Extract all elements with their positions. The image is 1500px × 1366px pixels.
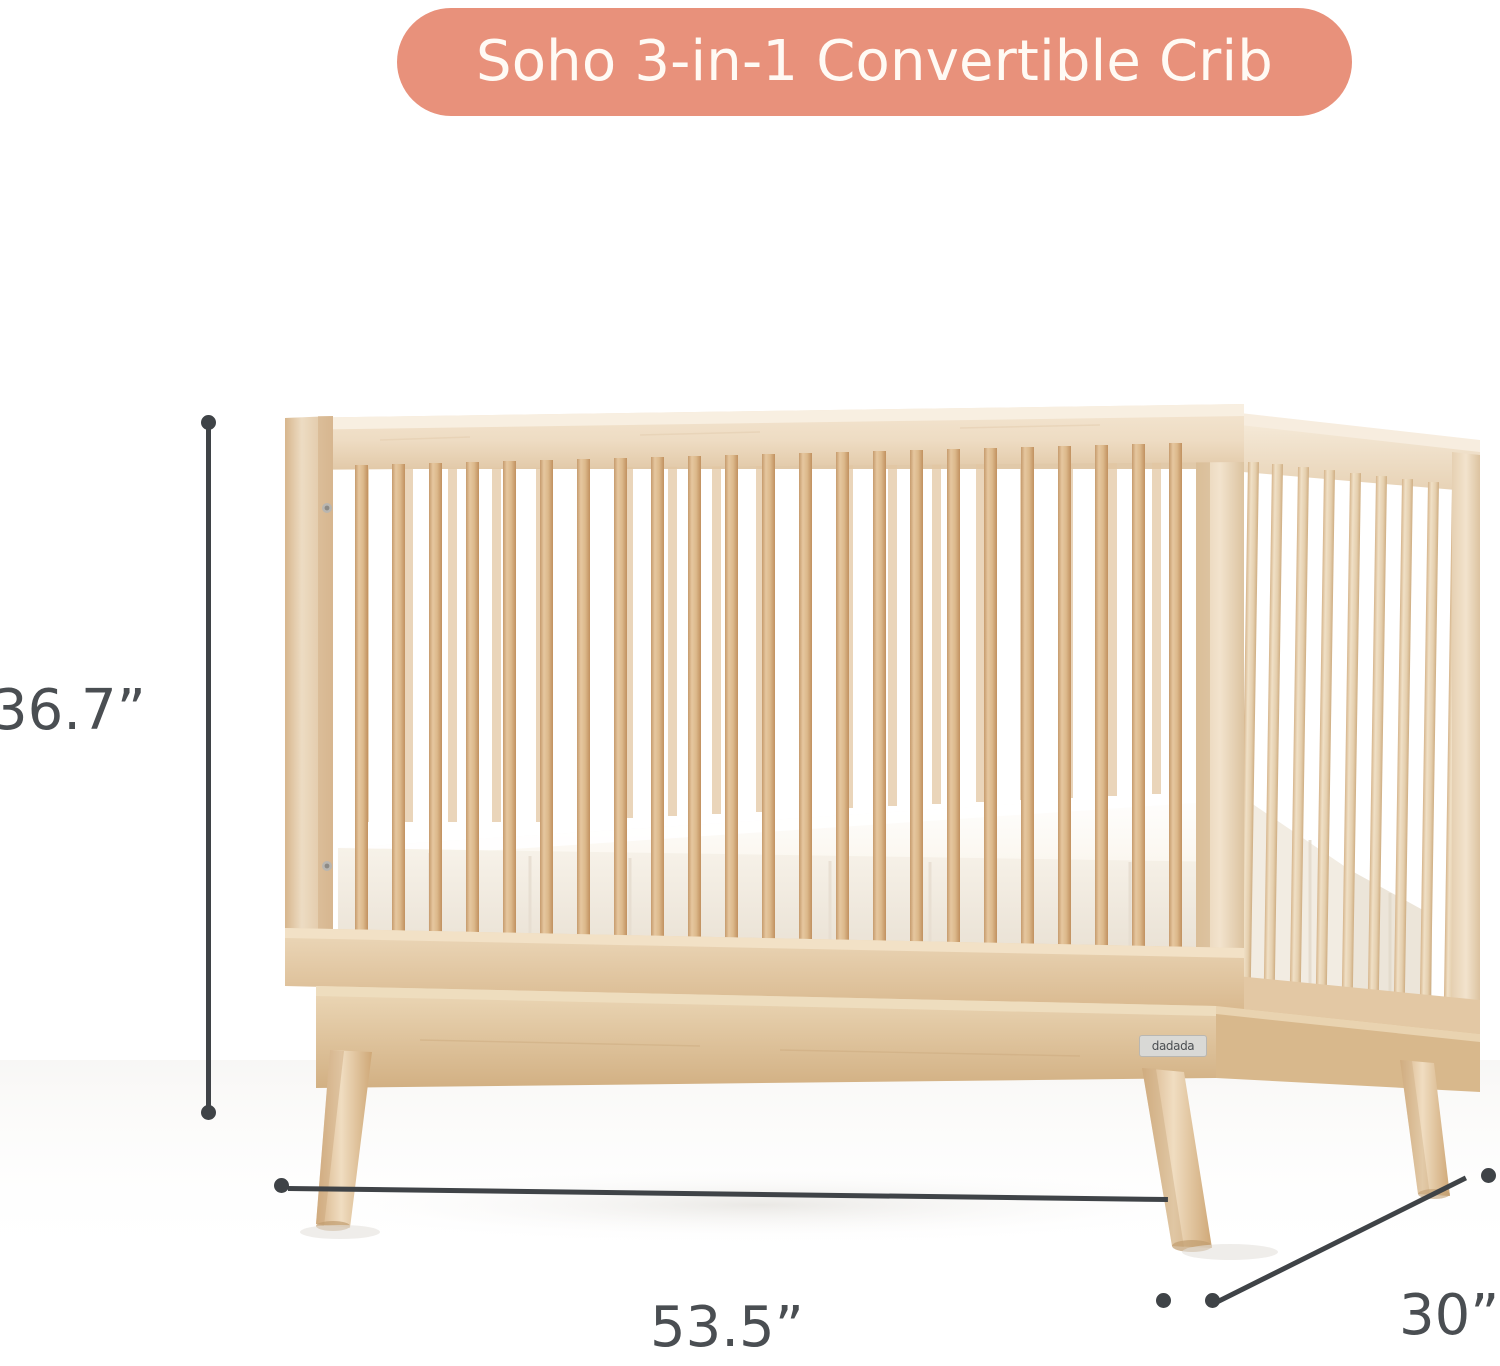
width-dimension-label: 53.5” xyxy=(650,1300,804,1356)
height-dimension-label: 36.7” xyxy=(0,683,146,739)
brand-logo-label: dadada xyxy=(1139,1035,1207,1057)
height-dimension-line xyxy=(206,428,211,1110)
product-image-canvas: dadada Soho 3-in-1 Convertible Crib 36.7… xyxy=(0,0,1500,1366)
width-endpoint-left-dot-icon xyxy=(274,1178,289,1193)
brand-logo-text: dadada xyxy=(1152,1040,1195,1052)
page-title: Soho 3-in-1 Convertible Crib xyxy=(476,34,1273,90)
height-endpoint-bottom-dot-icon xyxy=(201,1105,216,1120)
crib-product-illustration xyxy=(0,0,1500,1366)
product-title-banner: Soho 3-in-1 Convertible Crib xyxy=(397,8,1352,116)
depth-dimension-label: 30” xyxy=(1399,1288,1499,1344)
width-endpoint-right-dot-icon xyxy=(1156,1293,1171,1308)
depth-endpoint-far-dot-icon xyxy=(1481,1168,1496,1183)
